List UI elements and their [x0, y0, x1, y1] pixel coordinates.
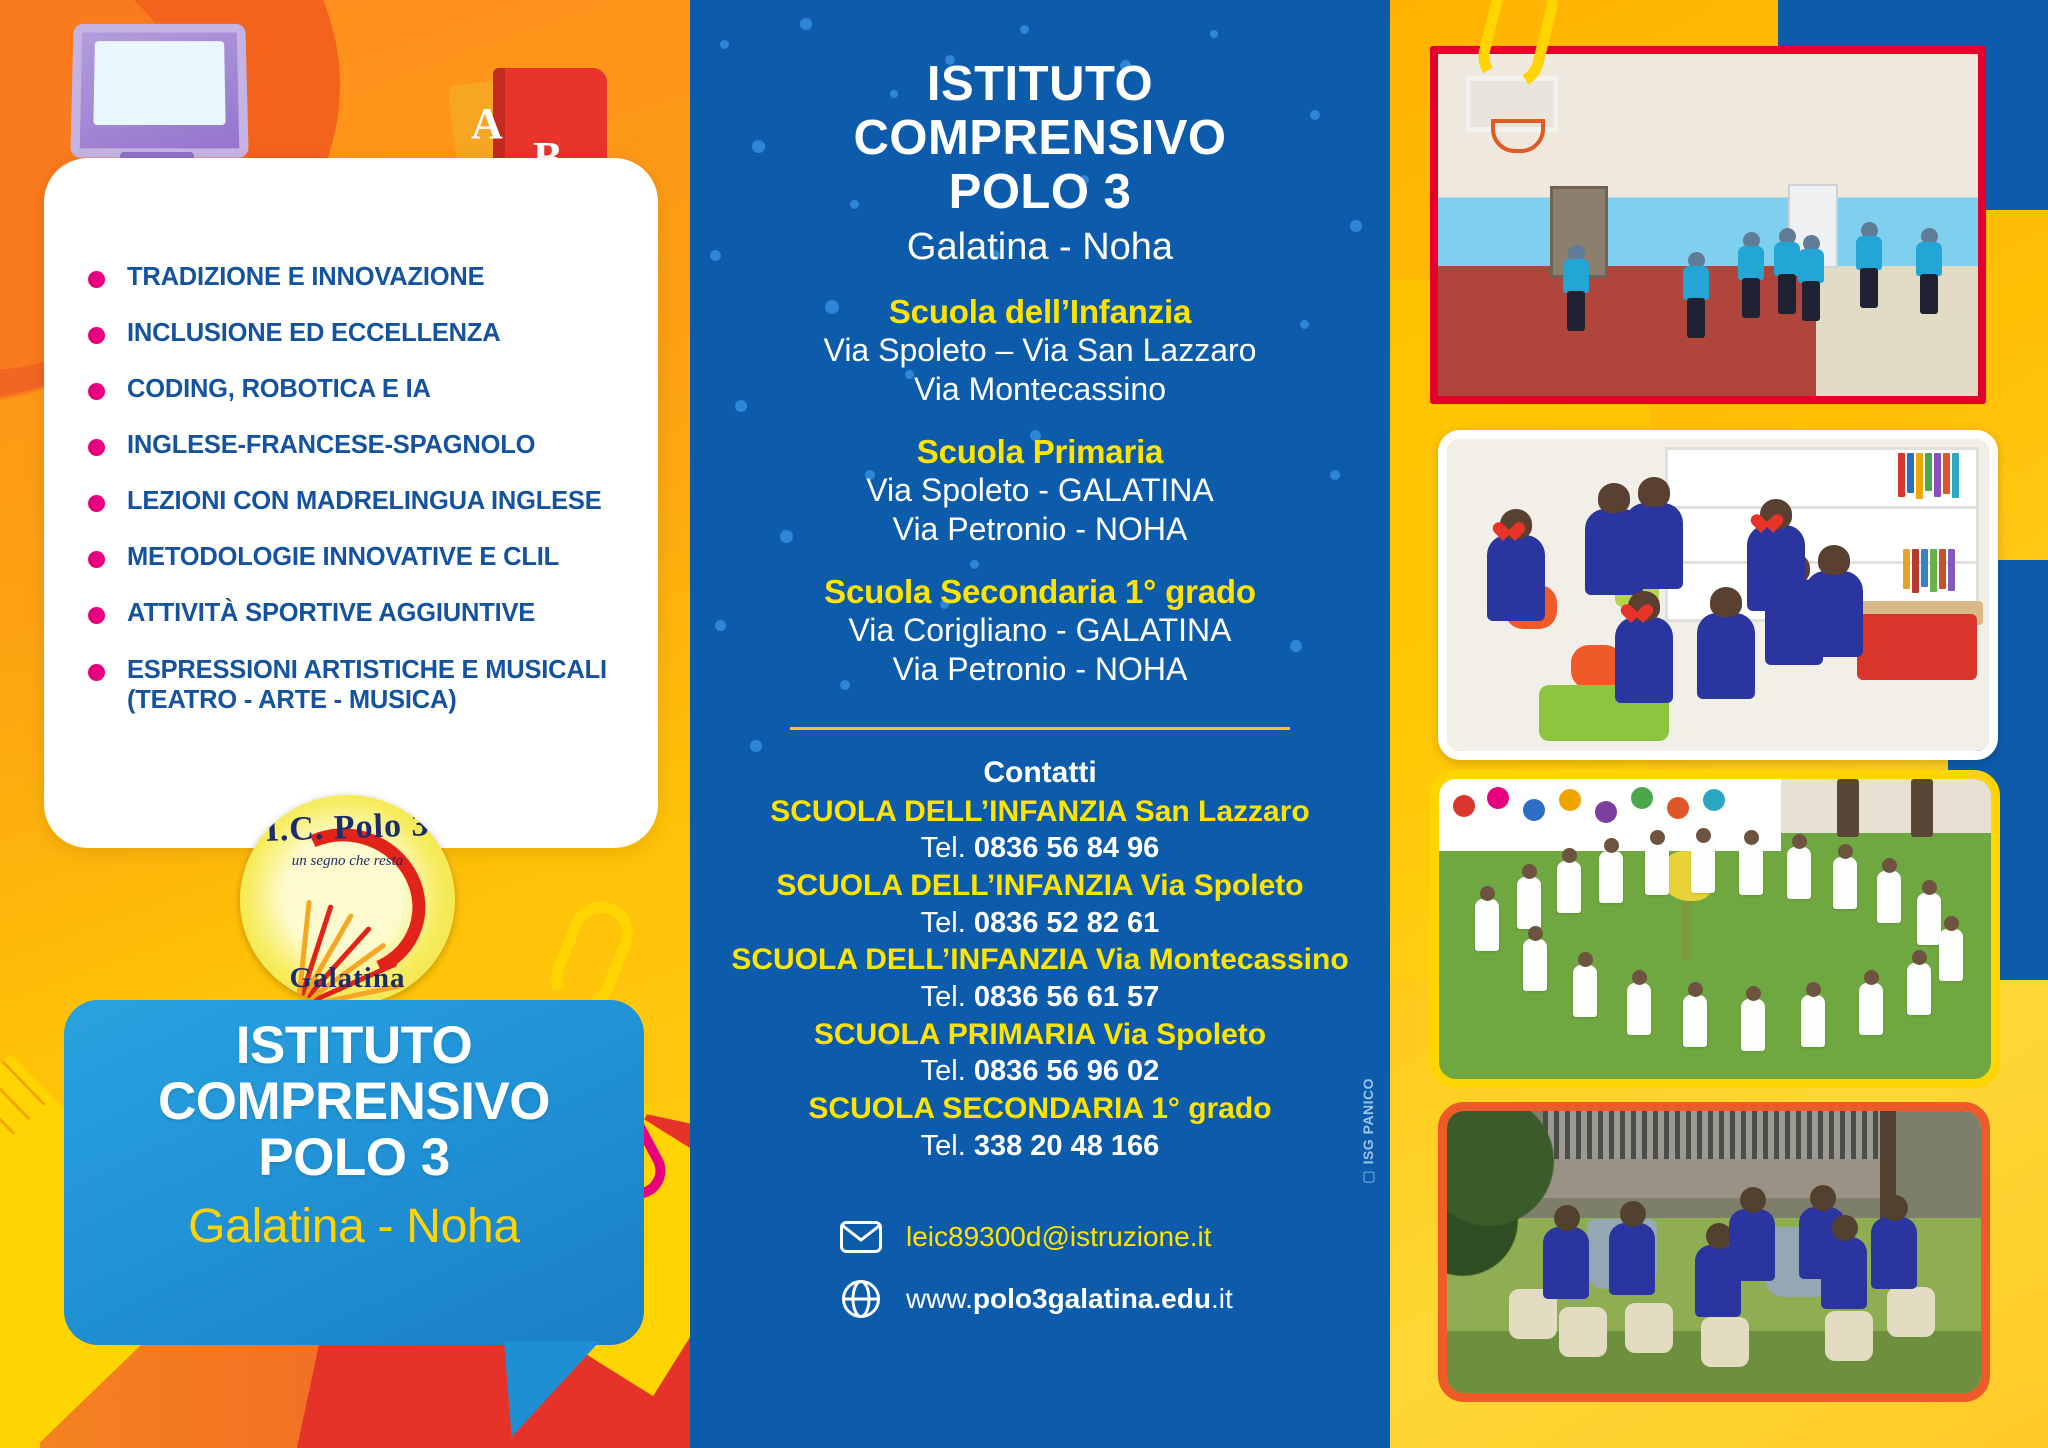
- contact-school-name: SCUOLA PRIMARIA Via Spoleto: [690, 1017, 1390, 1054]
- child-figure: [1543, 1227, 1589, 1299]
- left-subtitle: Galatina - Noha: [64, 1199, 644, 1254]
- website-prefix: www.: [906, 1283, 973, 1314]
- school-address: Via Petronio - NOHA: [690, 510, 1390, 549]
- credit-mark-icon: ▢: [1360, 1164, 1376, 1185]
- stool-icon: [1887, 1287, 1935, 1337]
- logo-name: I.C. Polo 3: [240, 805, 455, 850]
- child-figure: [1729, 1209, 1775, 1281]
- flower-icon: [1703, 789, 1725, 811]
- desk-red: [1857, 614, 1977, 680]
- flower-icon: [1523, 799, 1545, 821]
- student-figure: [1916, 242, 1942, 314]
- student-figure: [1625, 503, 1683, 589]
- feature-label: ESPRESSIONI ARTISTICHE E MUSICALI: [127, 655, 607, 685]
- school-address: Via Montecassino: [690, 370, 1390, 409]
- school-block-primaria: Scuola Primaria Via Spoleto - GALATINA V…: [690, 433, 1390, 549]
- school-name: Scuola Primaria: [690, 433, 1390, 471]
- globe-icon: [838, 1279, 884, 1319]
- center-title-line1: ISTITUTO: [690, 58, 1390, 112]
- tree-icon: [1837, 779, 1859, 837]
- school-address: Via Corigliano - GALATINA: [690, 611, 1390, 650]
- feature-item: INGLESE-FRANCESE-SPAGNOLO: [88, 430, 628, 460]
- contact-tel-row: Tel. 0836 56 61 57: [690, 979, 1390, 1017]
- student-figure: [1856, 236, 1882, 308]
- email-row[interactable]: leic89300d@istruzione.it: [838, 1217, 1390, 1257]
- tel-number[interactable]: 0836 56 96 02: [974, 1055, 1159, 1087]
- contacts-section: Contatti SCUOLA DELL’INFANZIA San Lazzar…: [690, 756, 1390, 1165]
- section-divider: [790, 727, 1290, 730]
- photo-gym-content: [1438, 54, 1978, 396]
- student-figure: [1683, 266, 1709, 338]
- student-figure: [1738, 246, 1764, 318]
- student-figure: [1615, 617, 1673, 703]
- school-logo: I.C. Polo 3 un segno che resta Galatina: [240, 795, 455, 1005]
- books-row: [1898, 453, 1959, 499]
- feature-label: METODOLOGIE INNOVATIVE E CLIL: [127, 542, 559, 572]
- tree-icon: [1911, 779, 1933, 837]
- flower-icon: [1487, 787, 1509, 809]
- feature-item: INCLUSIONE ED ECCELLENZA: [88, 318, 628, 348]
- child-figure: [1609, 1223, 1655, 1295]
- child-figure: [1645, 843, 1669, 895]
- feature-label: INCLUSIONE ED ECCELLENZA: [127, 318, 500, 348]
- contact-school-name: SCUOLA SECONDARIA 1° grado: [690, 1091, 1390, 1128]
- feature-label: ATTIVITÀ SPORTIVE AGGIUNTIVE: [127, 598, 535, 628]
- feature-label: TRADIZIONE E INNOVAZIONE: [127, 262, 484, 292]
- school-block-infanzia: Scuola dell’Infanzia Via Spoleto – Via S…: [690, 293, 1390, 409]
- child-figure: [1573, 965, 1597, 1017]
- child-figure: [1877, 871, 1901, 923]
- contact-tel-row: Tel. 338 20 48 166: [690, 1128, 1390, 1166]
- stool-icon: [1701, 1317, 1749, 1367]
- concrete-wall: [1511, 1159, 1895, 1198]
- contact-tel-row: Tel. 0836 52 82 61: [690, 905, 1390, 943]
- feature-item: CODING, ROBOTICA E IA: [88, 374, 628, 404]
- child-figure: [1475, 899, 1499, 951]
- logo-motto: un segno che resta: [240, 853, 455, 870]
- feature-sublabel: (TEATRO - ARTE - MUSICA): [127, 685, 607, 715]
- tel-number[interactable]: 0836 52 82 61: [974, 907, 1159, 939]
- flower-icon: [1595, 801, 1617, 823]
- email-address[interactable]: leic89300d@istruzione.it: [906, 1221, 1211, 1253]
- photo-credit: ▢ ISG PANICO: [1360, 1078, 1376, 1185]
- feature-item: LEZIONI CON MADRELINGUA INGLESE: [88, 486, 628, 516]
- child-figure: [1917, 893, 1941, 945]
- photo-garden-content: [1439, 779, 1991, 1079]
- photo-outdoor-content: [1447, 1111, 1981, 1393]
- metal-railing: [1543, 1111, 1885, 1162]
- tel-label: Tel.: [921, 832, 966, 864]
- center-title: ISTITUTO COMPRENSIVO POLO 3: [690, 58, 1390, 220]
- feature-label: LEZIONI CON MADRELINGUA INGLESE: [127, 486, 602, 516]
- gym-floor-red: [1438, 266, 1827, 396]
- logo-city: Galatina: [240, 962, 455, 995]
- photo-library-content: [1447, 439, 1989, 751]
- website-tld: .it: [1211, 1283, 1233, 1314]
- bullet-dot-icon: [88, 271, 105, 288]
- center-title-line2: COMPRENSIVO: [690, 112, 1390, 166]
- flower-icon: [1559, 789, 1581, 811]
- contacts-heading: Contatti: [690, 756, 1390, 790]
- feature-item: TRADIZIONE E INNOVAZIONE: [88, 262, 628, 292]
- student-figure: [1798, 249, 1824, 321]
- tel-number[interactable]: 0836 56 84 96: [974, 832, 1159, 864]
- photo-gym: [1430, 46, 1986, 404]
- left-title-line3: POLO 3: [64, 1130, 644, 1186]
- student-figure: [1697, 613, 1755, 699]
- contact-school-name: SCUOLA DELL’INFANZIA Via Montecassino: [690, 942, 1390, 979]
- tel-number[interactable]: 0836 56 61 57: [974, 981, 1159, 1013]
- school-name: Scuola Secondaria 1° grado: [690, 573, 1390, 611]
- book-letter-a: A: [471, 98, 503, 149]
- ruler-ticks: [0, 1053, 53, 1395]
- privacy-heart-icon: [1761, 515, 1783, 535]
- child-figure: [1517, 877, 1541, 929]
- feature-label: CODING, ROBOTICA E IA: [127, 374, 431, 404]
- bullet-dot-icon: [88, 327, 105, 344]
- child-figure: [1859, 983, 1883, 1035]
- left-title-line2: COMPRENSIVO: [64, 1074, 644, 1130]
- bullet-dot-icon: [88, 664, 105, 681]
- contact-tel-row: Tel. 0836 56 84 96: [690, 830, 1390, 868]
- bullet-dot-icon: [88, 607, 105, 624]
- child-figure: [1833, 857, 1857, 909]
- contact-school-name: SCUOLA DELL’INFANZIA San Lazzaro: [690, 794, 1390, 831]
- child-figure: [1741, 999, 1765, 1051]
- features-card: TRADIZIONE E INNOVAZIONE INCLUSIONE ED E…: [44, 158, 658, 848]
- tel-number[interactable]: 338 20 48 166: [974, 1130, 1159, 1162]
- school-address: Via Spoleto – Via San Lazzaro: [690, 331, 1390, 370]
- photo-garden: [1430, 770, 2000, 1088]
- books-row: [1903, 549, 1955, 593]
- photo-library: [1438, 430, 1998, 760]
- garden-wall: [1781, 779, 1991, 833]
- feature-item: ATTIVITÀ SPORTIVE AGGIUNTIVE: [88, 598, 628, 628]
- website-domain: polo3galatina.edu: [973, 1283, 1211, 1314]
- child-figure: [1907, 963, 1931, 1015]
- flower-icon: [1453, 795, 1475, 817]
- center-title-line3: POLO 3: [690, 166, 1390, 220]
- tel-label: Tel.: [921, 981, 966, 1013]
- stool-icon: [1625, 1303, 1673, 1353]
- child-figure: [1787, 847, 1811, 899]
- child-figure: [1523, 939, 1547, 991]
- stool-icon: [1825, 1311, 1873, 1361]
- computer-monitor-icon: [70, 24, 248, 158]
- tel-label: Tel.: [921, 1055, 966, 1087]
- child-figure: [1821, 1237, 1867, 1309]
- privacy-heart-icon: [1631, 605, 1653, 625]
- left-panel: A B TRADIZIONE E INNOVAZIONE INCLUSIONE …: [0, 0, 690, 1448]
- child-figure: [1939, 929, 1963, 981]
- school-block-secondaria: Scuola Secondaria 1° grado Via Coriglian…: [690, 573, 1390, 689]
- contact-links: leic89300d@istruzione.it www.polo3galati…: [690, 1217, 1390, 1319]
- right-panel: [1390, 0, 2048, 1448]
- center-subtitle: Galatina - Noha: [690, 226, 1390, 269]
- gym-floor-beige: [1816, 266, 1978, 396]
- flower-icon: [1667, 797, 1689, 819]
- feature-label: INGLESE-FRANCESE-SPAGNOLO: [127, 430, 535, 460]
- student-figure: [1747, 525, 1805, 611]
- bullet-dot-icon: [88, 439, 105, 456]
- tel-label: Tel.: [921, 907, 966, 939]
- student-figure: [1774, 242, 1800, 314]
- child-figure: [1627, 983, 1651, 1035]
- child-figure: [1691, 841, 1715, 893]
- feature-item: METODOLOGIE INNOVATIVE E CLIL: [88, 542, 628, 572]
- student-figure: [1805, 571, 1863, 657]
- child-figure: [1683, 995, 1707, 1047]
- privacy-heart-icon: [1503, 523, 1525, 543]
- student-figure: [1487, 535, 1545, 621]
- envelope-icon: [838, 1217, 884, 1257]
- left-title-line1: ISTITUTO: [64, 1018, 644, 1074]
- tel-label: Tel.: [921, 1130, 966, 1162]
- brochure-page: A B TRADIZIONE E INNOVAZIONE INCLUSIONE …: [0, 0, 2048, 1448]
- bullet-dot-icon: [88, 551, 105, 568]
- student-figure: [1563, 259, 1589, 331]
- feature-item: ESPRESSIONI ARTISTICHE E MUSICALI (TEATR…: [88, 655, 628, 715]
- child-figure: [1739, 843, 1763, 895]
- contact-tel-row: Tel. 0836 56 96 02: [690, 1053, 1390, 1091]
- contact-school-name: SCUOLA DELL’INFANZIA Via Spoleto: [690, 868, 1390, 905]
- child-figure: [1801, 995, 1825, 1047]
- credit-text: ISG PANICO: [1360, 1078, 1376, 1164]
- flower-icon: [1631, 787, 1653, 809]
- school-address: Via Petronio - NOHA: [690, 650, 1390, 689]
- school-name: Scuola dell’Infanzia: [690, 293, 1390, 331]
- school-address: Via Spoleto - GALATINA: [690, 471, 1390, 510]
- bullet-dot-icon: [88, 383, 105, 400]
- center-panel: ISTITUTO COMPRENSIVO POLO 3 Galatina - N…: [690, 0, 1390, 1448]
- stool-icon: [1559, 1307, 1607, 1357]
- child-figure: [1871, 1217, 1917, 1289]
- child-figure: [1557, 861, 1581, 913]
- website-url[interactable]: www.polo3galatina.edu.it: [906, 1283, 1233, 1315]
- left-title-bubble: ISTITUTO COMPRENSIVO POLO 3 Galatina - N…: [64, 1000, 644, 1345]
- child-figure: [1599, 851, 1623, 903]
- bullet-dot-icon: [88, 495, 105, 512]
- photo-outdoor-lunch: [1438, 1102, 1990, 1402]
- website-row[interactable]: www.polo3galatina.edu.it: [838, 1279, 1390, 1319]
